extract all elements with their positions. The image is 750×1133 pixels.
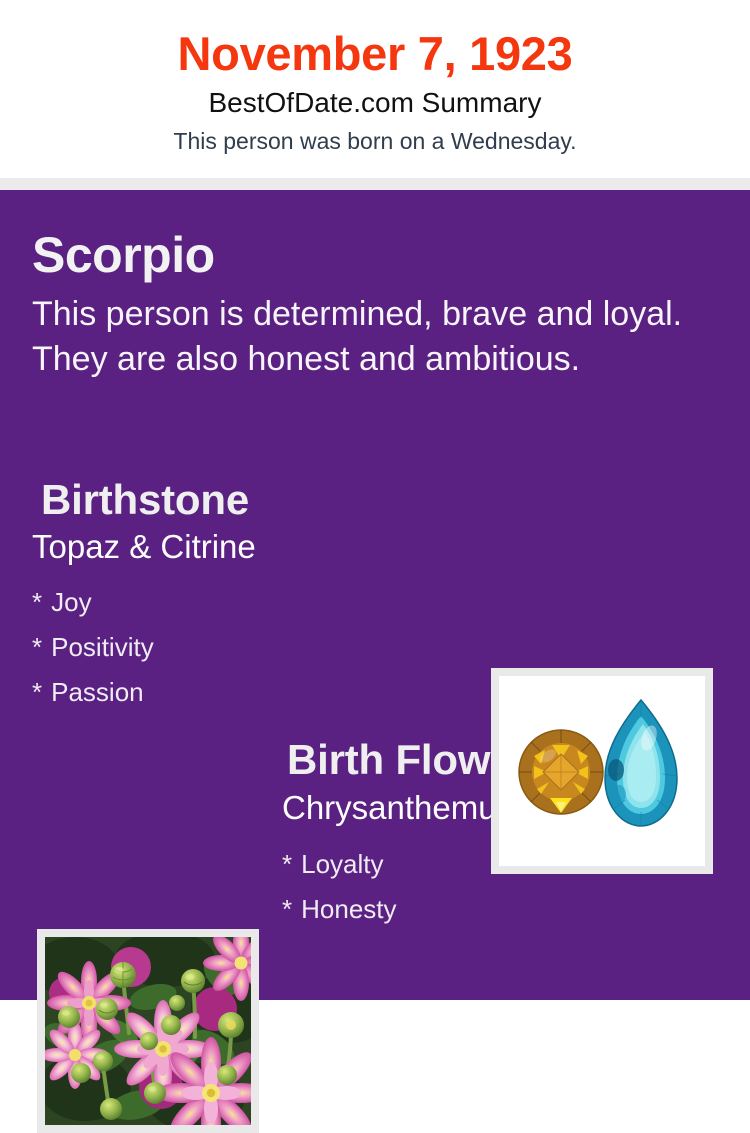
bullet-star-icon: *: [32, 677, 42, 707]
list-item-label: Passion: [51, 677, 144, 707]
list-item-label: Joy: [51, 587, 91, 617]
page-title: November 7, 1923: [0, 26, 750, 82]
birth-flower-image-frame: [37, 929, 259, 1133]
born-weekday-text: This person was born on a Wednesday.: [0, 127, 750, 155]
birthstone-image-frame: [491, 668, 713, 874]
bullet-star-icon: *: [32, 632, 42, 662]
bullet-star-icon: *: [282, 849, 292, 879]
birthstone-value: Topaz & Citrine: [32, 527, 256, 567]
header: November 7, 1923 BestOfDate.com Summary …: [0, 0, 750, 178]
bullet-star-icon: *: [32, 587, 42, 617]
chrysanthemum-illustration: [45, 937, 251, 1125]
zodiac-description: This person is determined, brave and loy…: [32, 292, 692, 382]
list-item: *Positivity: [32, 625, 452, 670]
birthstone-heading: Birthstone: [41, 475, 249, 525]
list-item-label: Loyalty: [301, 849, 383, 879]
birth-flower-image: [45, 937, 251, 1125]
bestofdate-summary-card: November 7, 1923 BestOfDate.com Summary …: [0, 0, 750, 1000]
site-summary-label: BestOfDate.com Summary: [0, 86, 750, 120]
birthstone-gems-image: [499, 676, 705, 866]
list-item: *Passion: [32, 670, 452, 715]
list-item: *Honesty: [282, 887, 702, 932]
list-item-label: Positivity: [51, 632, 154, 662]
bullet-star-icon: *: [282, 894, 292, 924]
summary-panel: Scorpio This person is determined, brave…: [0, 190, 750, 1000]
zodiac-sign-name: Scorpio: [32, 226, 215, 284]
list-item: *Joy: [32, 580, 452, 625]
birth-flower-value: Chrysanthemum: [282, 788, 524, 828]
list-item-label: Honesty: [301, 894, 396, 924]
header-divider: [0, 178, 750, 190]
gemstones-illustration: [499, 676, 705, 866]
birthstone-trait-list: *Joy *Positivity *Passion: [32, 580, 452, 715]
